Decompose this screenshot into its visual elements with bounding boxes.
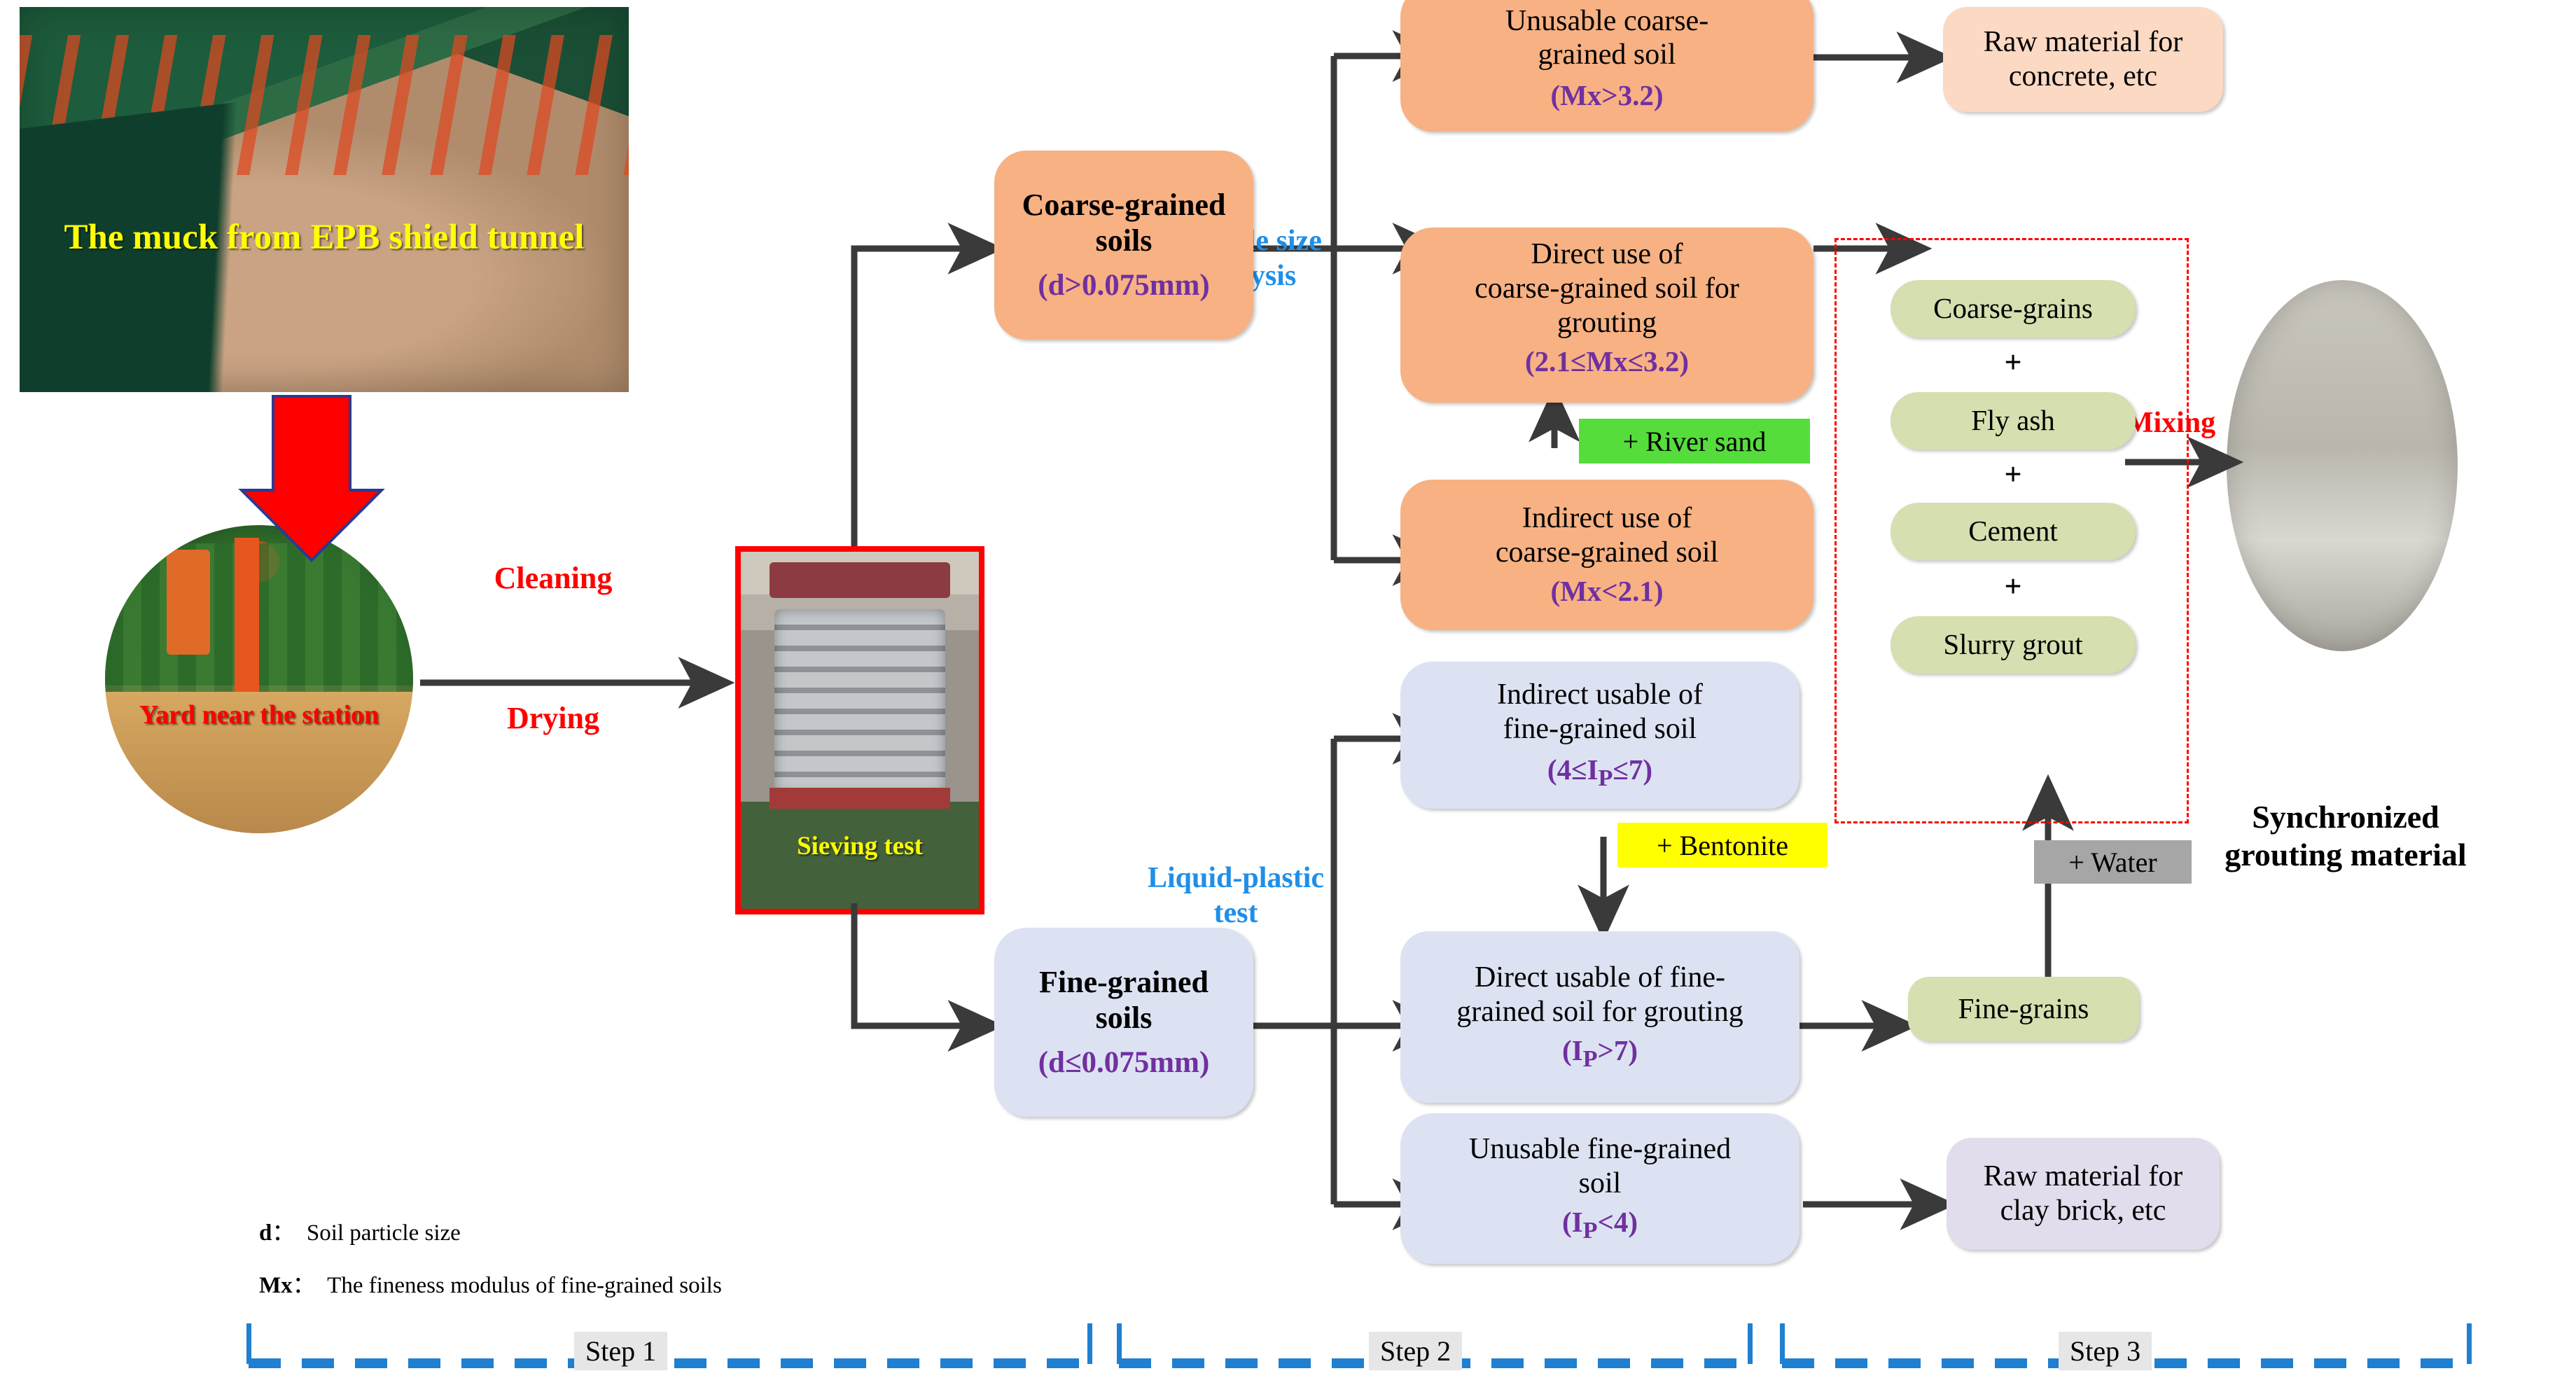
- legend-key-d: d: [259, 1220, 272, 1246]
- node-indirect-use-coarse-grained-soil[interactable]: Indirect use of coarse-grained soil (Mx<…: [1400, 480, 1813, 630]
- legend-row-mx: Mx： The fineness modulus of fine-grained…: [259, 1264, 722, 1308]
- step-label-3: Step 3: [2059, 1332, 2152, 1370]
- label-liquid-plastic-test: Liquid-plastic test: [1120, 861, 1351, 931]
- node-unusable-fine-grained-soil[interactable]: Unusable fine-grained soil (IP<4): [1400, 1113, 1799, 1264]
- yard-trees: [105, 543, 413, 691]
- node-sub: (2.1≤Mx≤3.2): [1525, 345, 1689, 379]
- node-title: Fine-grained soils: [1039, 964, 1209, 1036]
- step-cap-start-1: [246, 1323, 251, 1364]
- photo-caption-yard: Yard near the station: [105, 700, 413, 731]
- node-raw-material-concrete[interactable]: Raw material for concrete, etc: [1943, 7, 2223, 112]
- label-cleaning: Cleaning: [448, 560, 658, 597]
- node-title: Indirect use of coarse-grained soil: [1496, 501, 1718, 569]
- additive-water[interactable]: + Water: [2034, 840, 2192, 884]
- node-sub: (d>0.075mm): [1038, 268, 1209, 303]
- node-raw-material-clay-brick[interactable]: Raw material for clay brick, etc: [1947, 1138, 2220, 1250]
- node-sub: (IP<4): [1562, 1206, 1638, 1245]
- node-sub: (d≤0.075mm): [1038, 1045, 1210, 1080]
- node-title: Fine-grains: [1958, 992, 2089, 1026]
- photo-sieving-test: Sieving test: [735, 546, 984, 914]
- node-title: Unusable coarse- grained soil: [1505, 4, 1708, 72]
- node-title: Slurry grout: [1943, 628, 2082, 662]
- node-fine-grained-soils[interactable]: Fine-grained soils (d≤0.075mm): [994, 928, 1253, 1117]
- step-cap-end-1: [1087, 1323, 1092, 1364]
- photo-caption-muck: The muck from EPB shield tunnel: [20, 217, 629, 258]
- node-title: Indirect usable of fine-grained soil: [1497, 678, 1703, 746]
- step-rail-1: [249, 1358, 1092, 1368]
- photo-muck-conveyor: The muck from EPB shield tunnel: [20, 7, 629, 392]
- step-label-1: Step 1: [574, 1332, 667, 1370]
- legend-sep: ：: [293, 1273, 316, 1298]
- plus-sign-2: +: [1891, 457, 2136, 492]
- node-title: Raw material for concrete, etc: [1984, 25, 2183, 93]
- node-cement[interactable]: Cement: [1891, 503, 2136, 560]
- label-drying: Drying: [448, 700, 658, 737]
- sieve-top-frame: [770, 562, 950, 598]
- node-title: Cement: [1968, 515, 2058, 548]
- node-coarse-grained-soils[interactable]: Coarse-grained soils (d>0.075mm): [994, 151, 1253, 340]
- sieve-red-ring: [770, 788, 950, 809]
- legend-row-d: d： Soil particle size: [259, 1211, 461, 1255]
- node-direct-usable-fine-grained-soil[interactable]: Direct usable of fine- grained soil for …: [1400, 931, 1799, 1103]
- step-cap-start-3: [1780, 1323, 1785, 1364]
- step-cap-end-3: [2467, 1323, 2472, 1364]
- node-slurry-grout[interactable]: Slurry grout: [1891, 616, 2136, 674]
- node-unusable-coarse-grained-soil[interactable]: Unusable coarse- grained soil (Mx>3.2): [1400, 0, 1813, 132]
- additive-bentonite[interactable]: + Bentonite: [1617, 823, 1827, 868]
- legend-value-d: Soil particle size: [307, 1220, 461, 1246]
- legend-value-mx: The fineness modulus of fine-grained soi…: [327, 1273, 722, 1298]
- node-sub: (Mx<2.1): [1550, 575, 1663, 608]
- sieve-stack: [774, 609, 946, 795]
- plus-sign-1: +: [1891, 344, 2136, 380]
- node-sub: (4≤IP≤7): [1547, 753, 1652, 793]
- additive-river-sand[interactable]: + River sand: [1579, 419, 1810, 464]
- legend-sep: ：: [272, 1220, 295, 1246]
- node-title: Unusable fine-grained soil: [1469, 1132, 1731, 1200]
- node-title: Raw material for clay brick, etc: [1984, 1160, 2183, 1227]
- node-title: Direct use of coarse-grained soil for gr…: [1475, 237, 1739, 340]
- yard-crane-cab: [167, 550, 210, 655]
- node-title: Coarse-grains: [1933, 292, 2093, 326]
- plus-sign-3: +: [1891, 569, 2136, 604]
- node-fly-ash[interactable]: Fly ash: [1891, 392, 2136, 450]
- additive-label: + River sand: [1623, 425, 1767, 458]
- yard-crane-mast: [235, 538, 259, 716]
- photo-grouting-material: [2227, 280, 2458, 651]
- additive-label: + Water: [2068, 846, 2157, 879]
- photo-caption-sieving: Sieving test: [741, 832, 979, 862]
- node-indirect-usable-fine-grained-soil[interactable]: Indirect usable of fine-grained soil (4≤…: [1400, 662, 1799, 809]
- node-title: Fly ash: [1971, 404, 2055, 438]
- node-sub: (Mx>3.2): [1550, 79, 1663, 113]
- node-direct-use-coarse-grained-soil[interactable]: Direct use of coarse-grained soil for gr…: [1400, 228, 1813, 403]
- node-sub: (IP>7): [1562, 1034, 1638, 1073]
- node-title: Coarse-grained soils: [1022, 187, 1226, 258]
- photo-yard-near-station: Yard near the station: [105, 525, 413, 833]
- node-title: Direct usable of fine- grained soil for …: [1456, 961, 1743, 1029]
- step-cap-end-2: [1748, 1323, 1753, 1364]
- additive-label: + Bentonite: [1657, 829, 1788, 862]
- legend-key-mx: Mx: [259, 1273, 293, 1298]
- node-coarse-grains[interactable]: Coarse-grains: [1891, 280, 2136, 337]
- step-label-2: Step 2: [1369, 1332, 1462, 1370]
- output-title: Synchronized grouting material: [2185, 798, 2507, 875]
- step-cap-start-2: [1117, 1323, 1122, 1364]
- node-fine-grains[interactable]: Fine-grains: [1908, 977, 2139, 1041]
